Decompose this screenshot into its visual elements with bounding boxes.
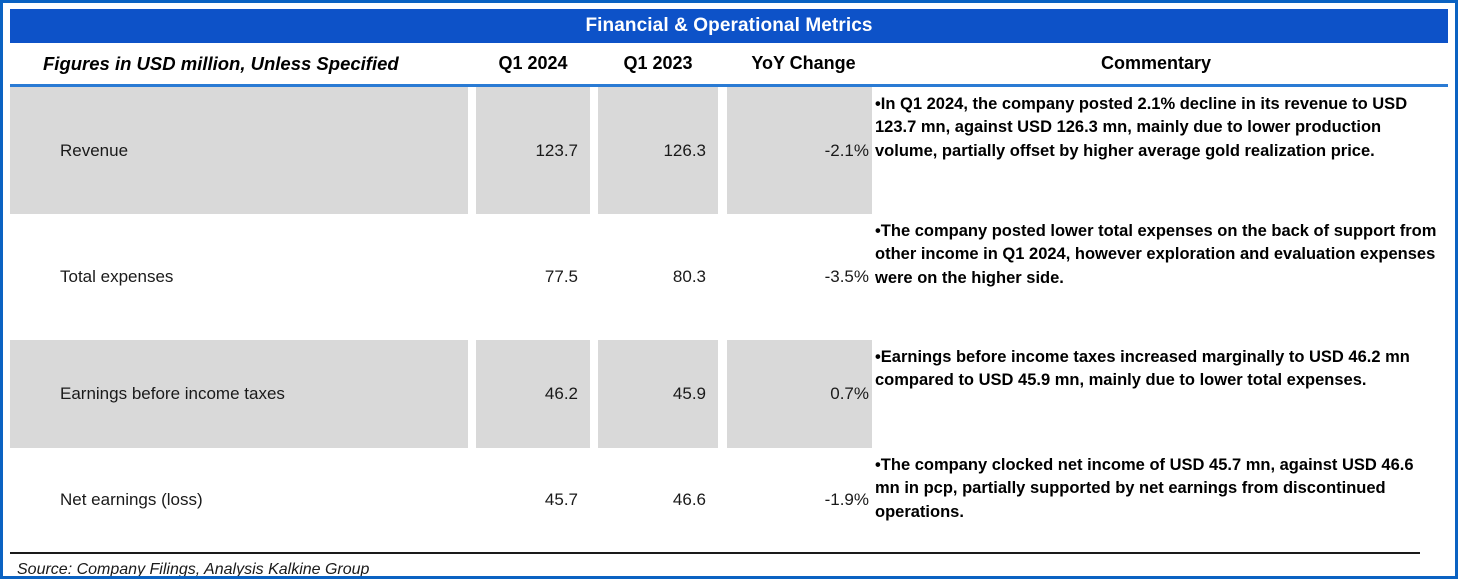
row-prior-value: 45.9	[598, 340, 718, 448]
row-gap-3	[718, 214, 727, 340]
row-commentary: •In Q1 2024, the company posted 2.1% dec…	[872, 87, 1448, 214]
table-row: Total expenses 77.5 80.3 -3.5% •The comp…	[10, 214, 1448, 340]
row-gap-1	[468, 340, 476, 448]
row-yoy-value: 0.7%	[727, 340, 872, 448]
table-row: Revenue 123.7 126.3 -2.1% •In Q1 2024, t…	[10, 87, 1448, 214]
row-commentary-text: The company posted lower total expenses …	[875, 222, 1436, 287]
source-note: Source: Company Filings, Analysis Kalkin…	[10, 554, 1448, 579]
row-gap-1	[468, 87, 476, 214]
header-yoy-change: YoY Change	[727, 53, 872, 74]
header-current-period: Q1 2024	[476, 53, 590, 74]
financial-metrics-table: Financial & Operational Metrics Figures …	[0, 0, 1458, 579]
table-row: Net earnings (loss) 45.7 46.6 -1.9% •The…	[10, 448, 1448, 552]
row-prior-value: 80.3	[598, 214, 718, 340]
row-commentary-text: The company clocked net income of USD 45…	[875, 456, 1414, 521]
header-commentary: Commentary	[872, 53, 1448, 74]
row-current-value: 77.5	[476, 214, 590, 340]
table-row: Earnings before income taxes 46.2 45.9 0…	[10, 340, 1448, 448]
header-metric: Figures in USD million, Unless Specified	[10, 53, 468, 75]
row-gap-3	[718, 87, 727, 214]
row-current-value: 46.2	[476, 340, 590, 448]
row-metric-label: Revenue	[10, 87, 468, 214]
row-commentary-text: Earnings before income taxes increased m…	[875, 348, 1410, 389]
row-prior-value: 46.6	[598, 448, 718, 552]
row-gap-3	[718, 340, 727, 448]
row-prior-value: 126.3	[598, 87, 718, 214]
row-gap-2	[590, 87, 598, 214]
row-yoy-value: -1.9%	[727, 448, 872, 552]
row-gap-3	[718, 448, 727, 552]
row-current-value: 123.7	[476, 87, 590, 214]
row-metric-label: Total expenses	[10, 214, 468, 340]
row-yoy-value: -3.5%	[727, 214, 872, 340]
table-title: Financial & Operational Metrics	[10, 9, 1448, 43]
row-commentary: •Earnings before income taxes increased …	[872, 340, 1448, 448]
column-header-row: Figures in USD million, Unless Specified…	[10, 43, 1448, 87]
row-gap-1	[468, 214, 476, 340]
row-gap-1	[468, 448, 476, 552]
row-commentary: •The company clocked net income of USD 4…	[872, 448, 1448, 552]
table-container: Financial & Operational Metrics Figures …	[3, 3, 1455, 576]
row-yoy-value: -2.1%	[727, 87, 872, 214]
row-gap-2	[590, 340, 598, 448]
row-commentary: •The company posted lower total expenses…	[872, 214, 1448, 340]
row-metric-label: Net earnings (loss)	[10, 448, 468, 552]
row-gap-2	[590, 214, 598, 340]
row-current-value: 45.7	[476, 448, 590, 552]
row-commentary-text: In Q1 2024, the company posted 2.1% decl…	[875, 95, 1407, 160]
header-prior-period: Q1 2023	[598, 53, 718, 74]
row-gap-2	[590, 448, 598, 552]
row-metric-label: Earnings before income taxes	[10, 340, 468, 448]
